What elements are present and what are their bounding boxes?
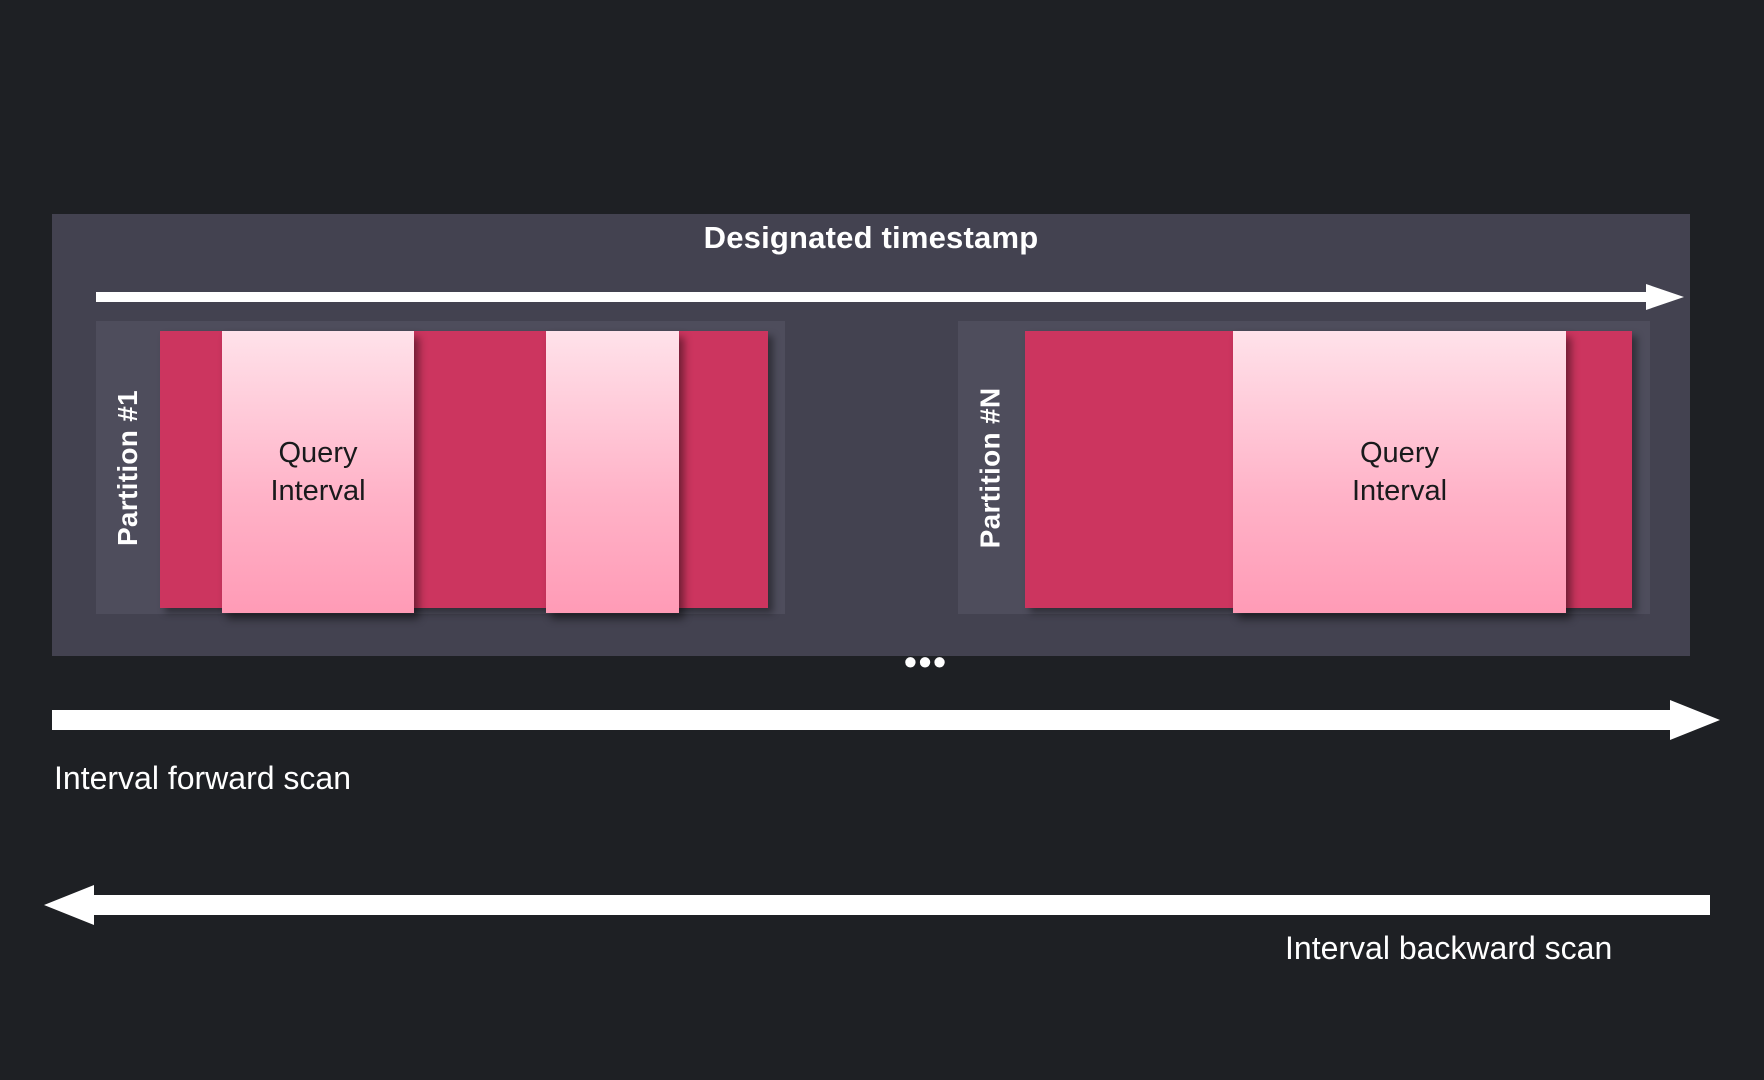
query-interval-label-line1: Query: [1352, 434, 1447, 472]
partitions-ellipsis: •••: [894, 644, 958, 680]
interval-forward-scan-label: Interval forward scan: [54, 760, 351, 797]
page-title: Designated timestamp: [52, 220, 1690, 256]
query-interval-label-line2: Interval: [1352, 472, 1447, 510]
interval-backward-scan-arrow: [44, 885, 1710, 925]
interval-forward-scan-arrow: [52, 700, 1720, 740]
partition-label-n-text: Partition #N: [974, 387, 1006, 548]
query-interval-label-line1: Query: [270, 434, 365, 472]
partition-group-1: Partition #1 Query Interval: [96, 321, 785, 614]
query-interval-block[interactable]: Query Interval: [222, 331, 414, 613]
interval-backward-scan-label: Interval backward scan: [1285, 930, 1612, 967]
partition-label-1: Partition #1: [96, 321, 160, 614]
designated-timestamp-arrow: [96, 284, 1684, 310]
query-interval-label: Query Interval: [1352, 434, 1447, 511]
query-interval-label: Query Interval: [270, 434, 365, 511]
query-interval-block[interactable]: [546, 331, 679, 613]
partition-label-n: Partition #N: [958, 321, 1022, 614]
partition-group-n: Partition #N Query Interval: [958, 321, 1650, 614]
query-interval-block[interactable]: Query Interval: [1233, 331, 1566, 613]
query-interval-label-line2: Interval: [270, 472, 365, 510]
partition-label-1-text: Partition #1: [112, 389, 144, 545]
designated-timestamp-panel: Designated timestamp Partition #1 Query …: [52, 214, 1690, 656]
